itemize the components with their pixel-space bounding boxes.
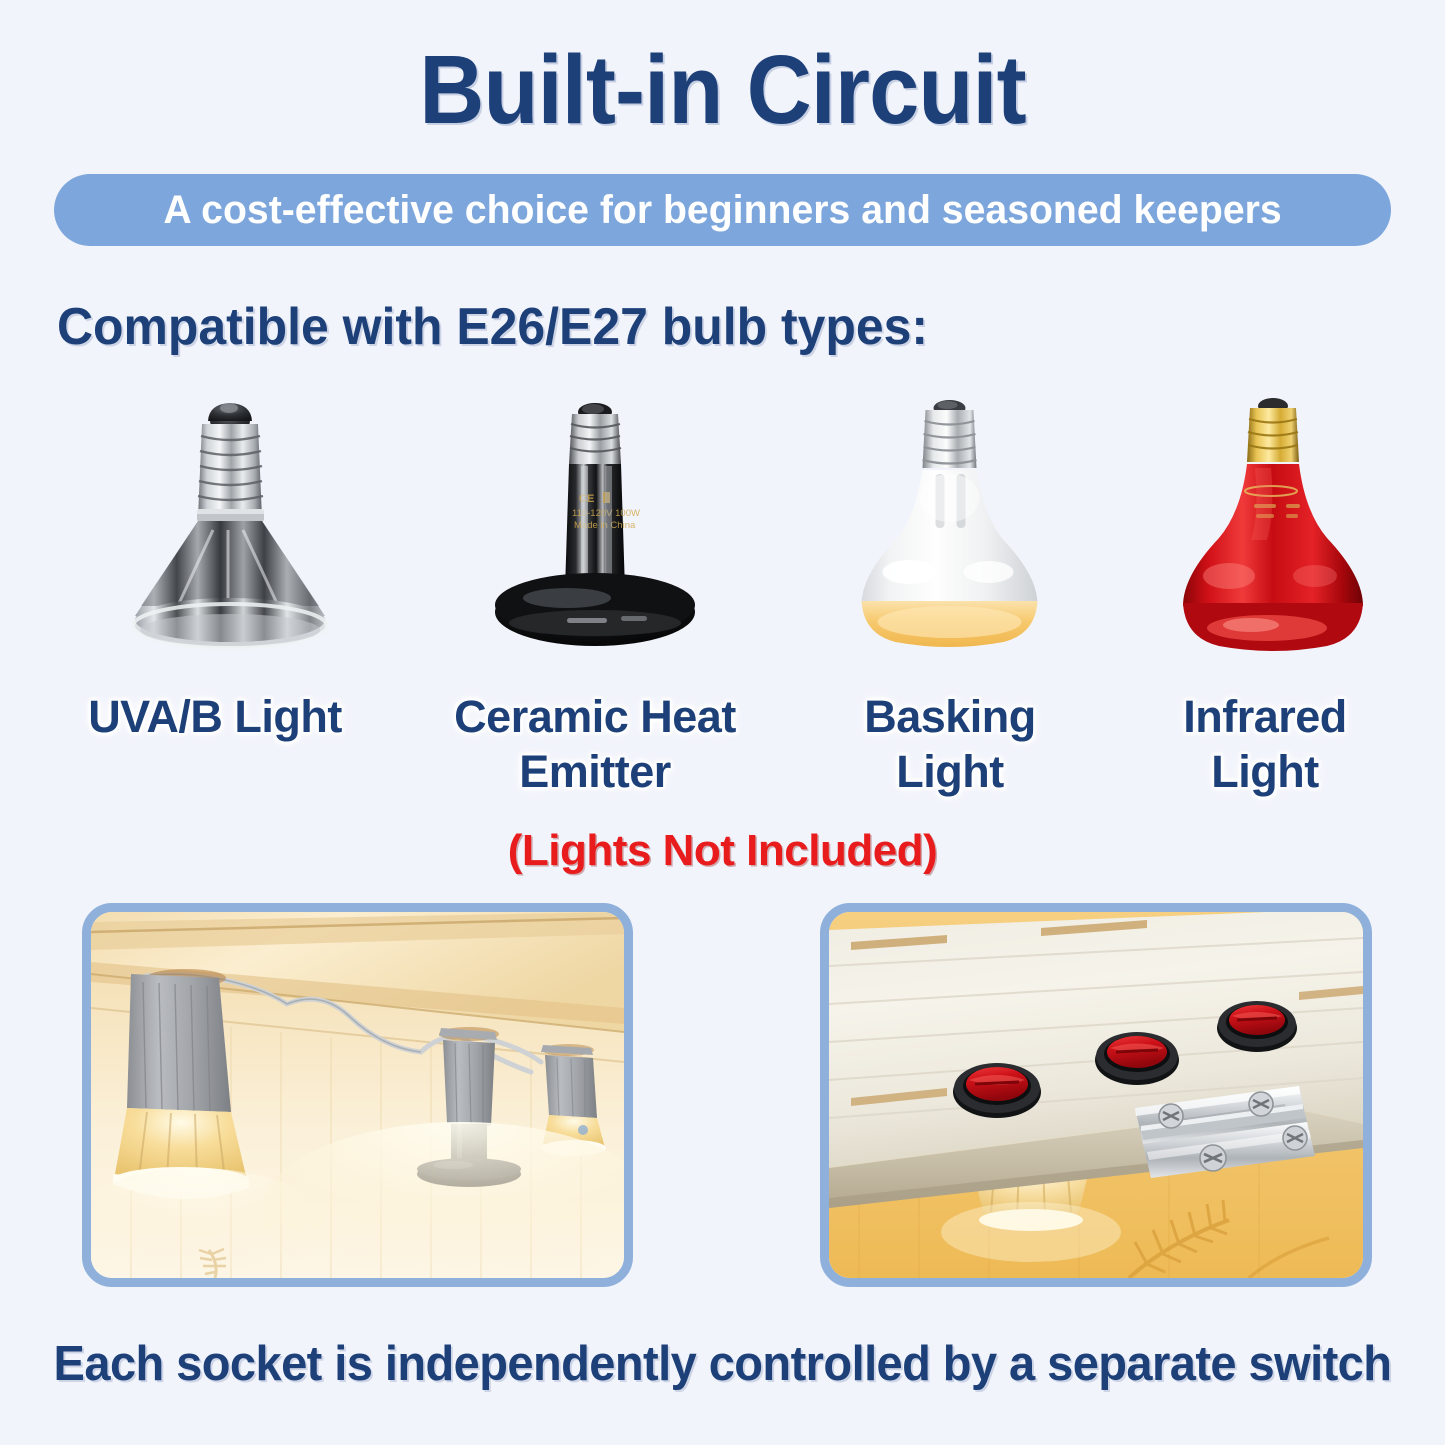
subtitle-banner: A cost-effective choice for beginners an… xyxy=(54,174,1391,246)
bulb-type-row: CE 110-120V 100W Made in China xyxy=(0,390,1445,690)
bulb-item-infrared-light xyxy=(1110,390,1440,690)
interior-sockets-illustration xyxy=(91,912,624,1278)
rocker-switch-3[interactable] xyxy=(1217,1001,1297,1052)
bulb-label-infrared-light: Infrared Light xyxy=(1110,690,1420,800)
ceramic-heat-emitter-icon: CE 110-120V 100W Made in China xyxy=(475,390,715,670)
bulb-item-uva-b xyxy=(60,390,400,690)
basking-light-bulb-icon xyxy=(838,390,1063,670)
infrared-light-bulb-icon xyxy=(1155,390,1395,672)
infographic-page: Built-in Circuit A cost-effective choice… xyxy=(0,0,1445,1445)
interior-sockets-photo xyxy=(82,903,633,1287)
rocker-switch-2[interactable] xyxy=(1095,1032,1179,1085)
top-panel-switches-photo xyxy=(820,903,1372,1287)
bulb-item-basking-light xyxy=(800,390,1100,690)
bulb-label-line2: Light xyxy=(1211,746,1318,797)
bulb-label-line1: Ceramic Heat xyxy=(454,691,736,742)
bulb-label-uva-b: UVA/B Light xyxy=(30,690,400,745)
bulb-label-line2: Light xyxy=(896,746,1003,797)
page-title: Built-in Circuit xyxy=(51,34,1395,146)
bulb-label-line1: Infrared xyxy=(1183,691,1347,742)
compatibility-heading: Compatible with E26/E27 bulb types: xyxy=(57,297,928,357)
top-panel-switches-illustration xyxy=(829,912,1363,1278)
bulb-label-basking-light: Basking Light xyxy=(810,690,1090,800)
bulb-label-ceramic-heat-emitter: Ceramic Heat Emitter xyxy=(410,690,780,800)
bulb-label-text: UVA/B Light xyxy=(88,691,342,742)
subtitle-text: A cost-effective choice for beginners an… xyxy=(163,188,1281,233)
bottom-caption: Each socket is independently controlled … xyxy=(29,1336,1416,1392)
bulb-label-line2: Emitter xyxy=(519,746,671,797)
uva-b-reflector-bulb-icon xyxy=(105,390,355,680)
bulb-label-line1: Basking xyxy=(864,691,1036,742)
bulb-item-ceramic-heat-emitter: CE 110-120V 100W Made in China xyxy=(420,390,770,690)
lights-not-included-note: (Lights Not Included) xyxy=(0,826,1445,876)
rocker-switch-1[interactable] xyxy=(953,1063,1041,1118)
